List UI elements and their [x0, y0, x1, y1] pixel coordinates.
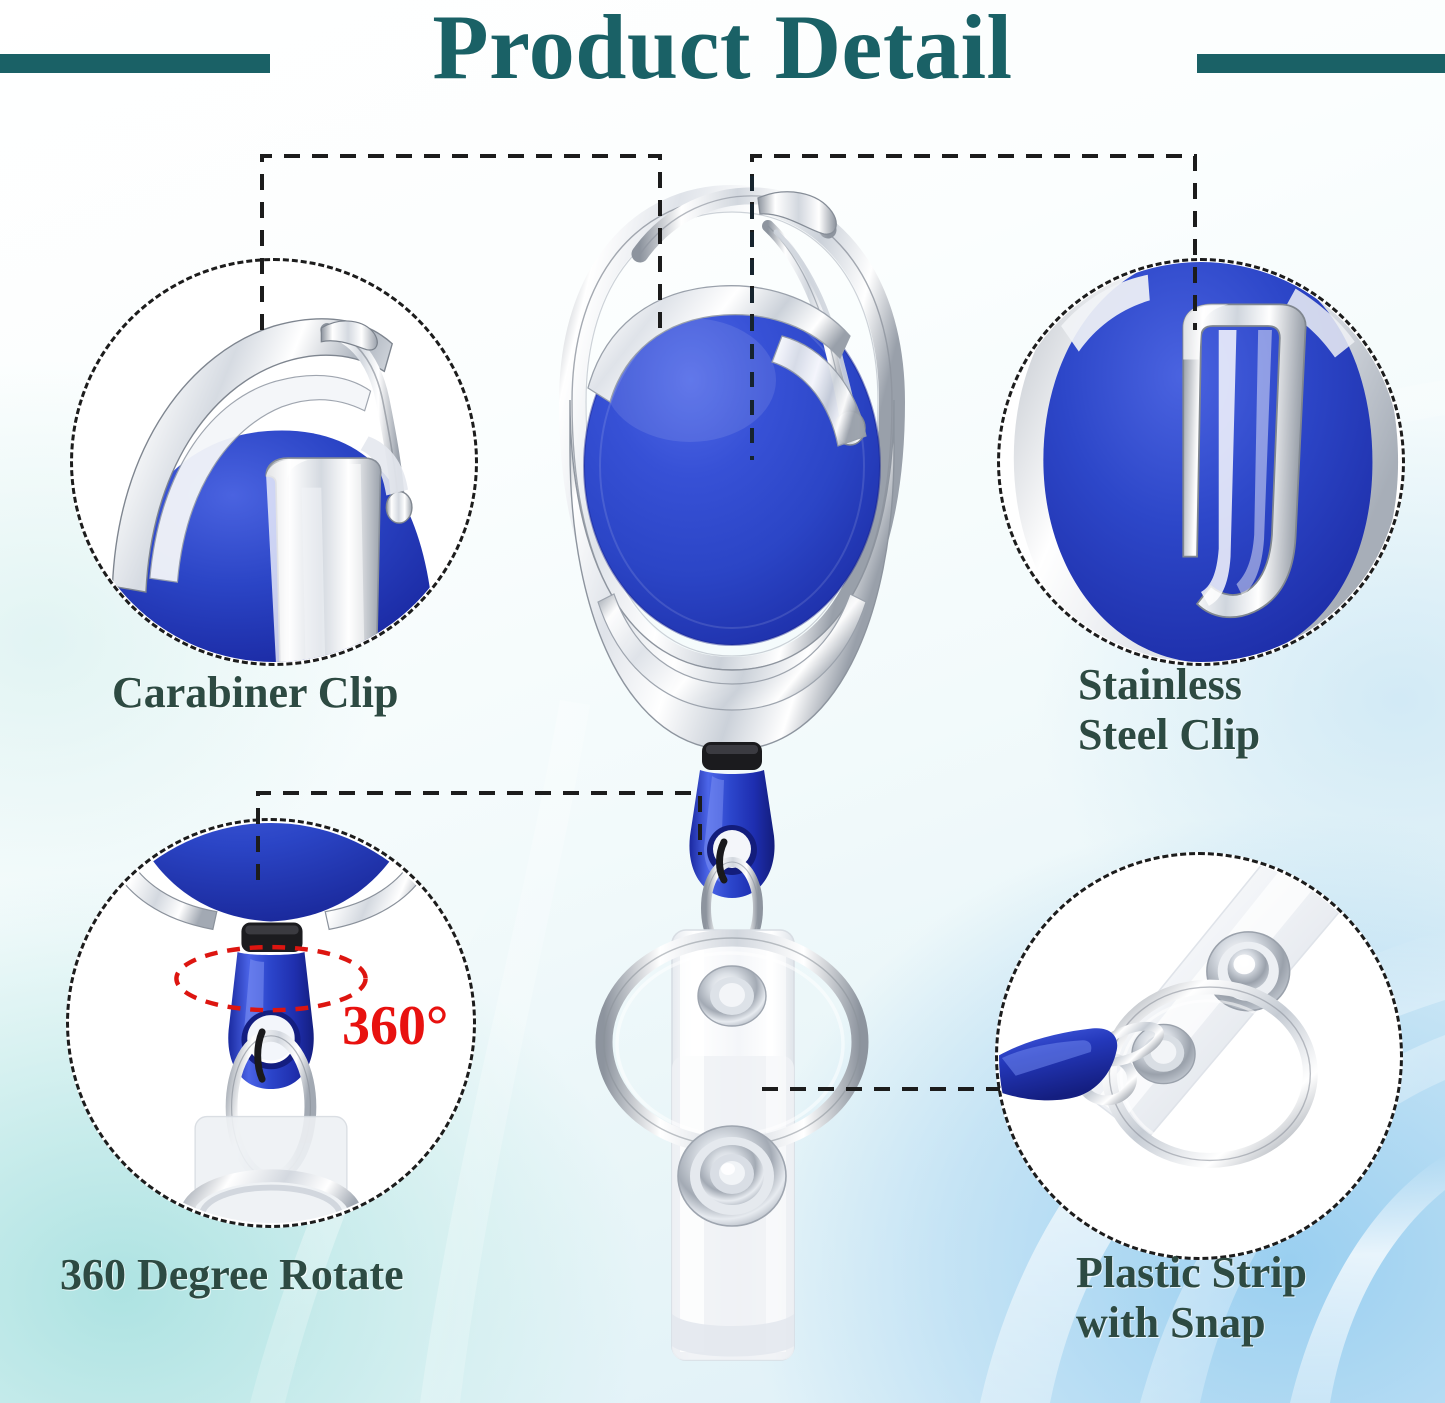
- caption-plastic-strip-with-snap: Plastic Strip with Snap: [1076, 1248, 1307, 1347]
- page-title: Product Detail: [0, 0, 1445, 100]
- product-main-image: [520, 150, 940, 1380]
- detail-circle-carabiner-clip: [70, 258, 478, 666]
- caption-line-1: Plastic Strip: [1076, 1248, 1307, 1298]
- carabiner-clip-closeup-illustration: [73, 261, 475, 663]
- page-header: Product Detail: [0, 0, 1445, 120]
- detail-circle-stainless-steel-clip: [997, 258, 1405, 666]
- plastic-strip-snap-closeup-illustration: [998, 855, 1400, 1257]
- caption-line-1: Stainless: [1078, 660, 1260, 710]
- caption-line-2: Steel Clip: [1078, 710, 1260, 760]
- badge-360-degrees: 360°: [342, 994, 448, 1058]
- caption-line-2: with Snap: [1076, 1298, 1307, 1348]
- caption-stainless-steel-clip: Stainless Steel Clip: [1078, 660, 1260, 759]
- detail-circle-plastic-strip-with-snap: [995, 852, 1403, 1260]
- caption-carabiner-clip: Carabiner Clip: [112, 668, 398, 718]
- badge-reel-illustration: [520, 150, 940, 1380]
- stainless-steel-clip-closeup-illustration: [1000, 261, 1402, 663]
- caption-360-degree-rotate: 360 Degree Rotate: [60, 1250, 404, 1300]
